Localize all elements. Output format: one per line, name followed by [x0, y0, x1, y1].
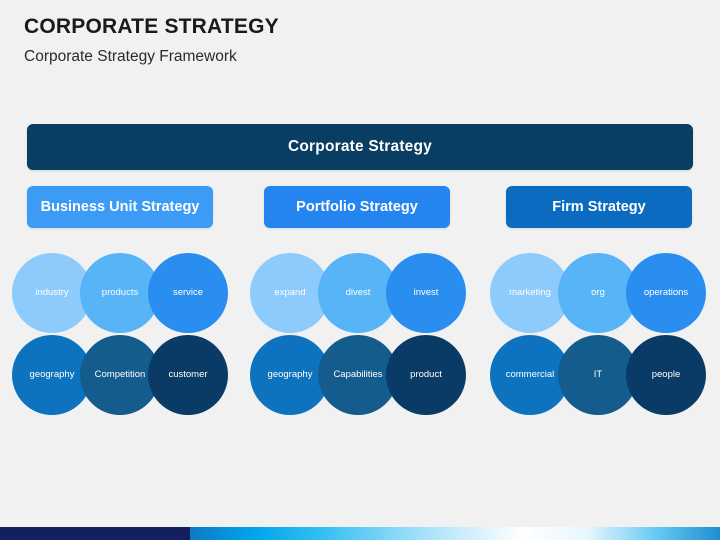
pillar-bar-portfolio-strategy[interactable]: Portfolio Strategy [264, 186, 450, 228]
bubble-product[interactable]: product [386, 335, 466, 415]
bubble-label: marketing [505, 288, 555, 298]
bubble-label: geography [26, 370, 79, 380]
bubble-label: IT [590, 370, 606, 380]
master-strategy-label: Corporate Strategy [288, 138, 432, 156]
bubble-service[interactable]: service [148, 253, 228, 333]
footer-strip-dark-segment [0, 527, 190, 540]
circle-row-bottom: geographyCapabilitiesproduct [250, 335, 478, 415]
pillar-label-firm-strategy: Firm Strategy [546, 199, 651, 215]
bubble-label: Competition [91, 370, 150, 380]
circle-row-top: expanddivestinvest [250, 253, 478, 333]
bubble-label: invest [410, 288, 443, 298]
bubble-label: commercial [502, 370, 559, 380]
circle-row-bottom: geographyCompetitioncustomer [12, 335, 240, 415]
title-block: CORPORATE STRATEGY Corporate Strategy Fr… [24, 14, 684, 67]
pillar-bar-business-unit-strategy[interactable]: Business Unit Strategy [27, 186, 213, 228]
bubble-label: expand [270, 288, 309, 298]
bubble-label: products [98, 288, 142, 298]
pillar-bar-firm-strategy[interactable]: Firm Strategy [506, 186, 692, 228]
circle-row-bottom: commercialITpeople [490, 335, 718, 415]
circle-cluster-firm-strategy: marketingorgoperations commercialITpeopl… [490, 253, 718, 423]
circle-cluster-business-unit-strategy: industryproductsservice geographyCompeti… [12, 253, 240, 423]
circle-cluster-portfolio-strategy: expanddivestinvest geographyCapabilities… [250, 253, 478, 423]
bubble-label: product [406, 370, 446, 380]
footer-strip [0, 527, 720, 540]
pillar-label-portfolio-strategy: Portfolio Strategy [290, 199, 424, 215]
pillar-label-business-unit-strategy: Business Unit Strategy [35, 199, 206, 215]
bubble-label: org [587, 288, 609, 298]
bubble-label: customer [164, 370, 211, 380]
page-title: CORPORATE STRATEGY [24, 14, 684, 39]
bubble-label: divest [342, 288, 375, 298]
bubble-label: service [169, 288, 207, 298]
bubble-invest[interactable]: invest [386, 253, 466, 333]
page-subtitle: Corporate Strategy Framework [24, 48, 684, 67]
footer-strip-gradient-segment [190, 527, 720, 540]
slide-canvas: CORPORATE STRATEGY Corporate Strategy Fr… [0, 0, 720, 540]
bubble-label: operations [640, 288, 692, 298]
bubble-people[interactable]: people [626, 335, 706, 415]
circle-row-top: industryproductsservice [12, 253, 240, 333]
bubble-label: people [648, 370, 685, 380]
bubble-label: Capabilities [329, 370, 386, 380]
circle-row-top: marketingorgoperations [490, 253, 718, 333]
bubble-label: industry [31, 288, 72, 298]
bubble-customer[interactable]: customer [148, 335, 228, 415]
bubble-operations[interactable]: operations [626, 253, 706, 333]
master-strategy-bar[interactable]: Corporate Strategy [27, 124, 693, 170]
bubble-label: geography [264, 370, 317, 380]
